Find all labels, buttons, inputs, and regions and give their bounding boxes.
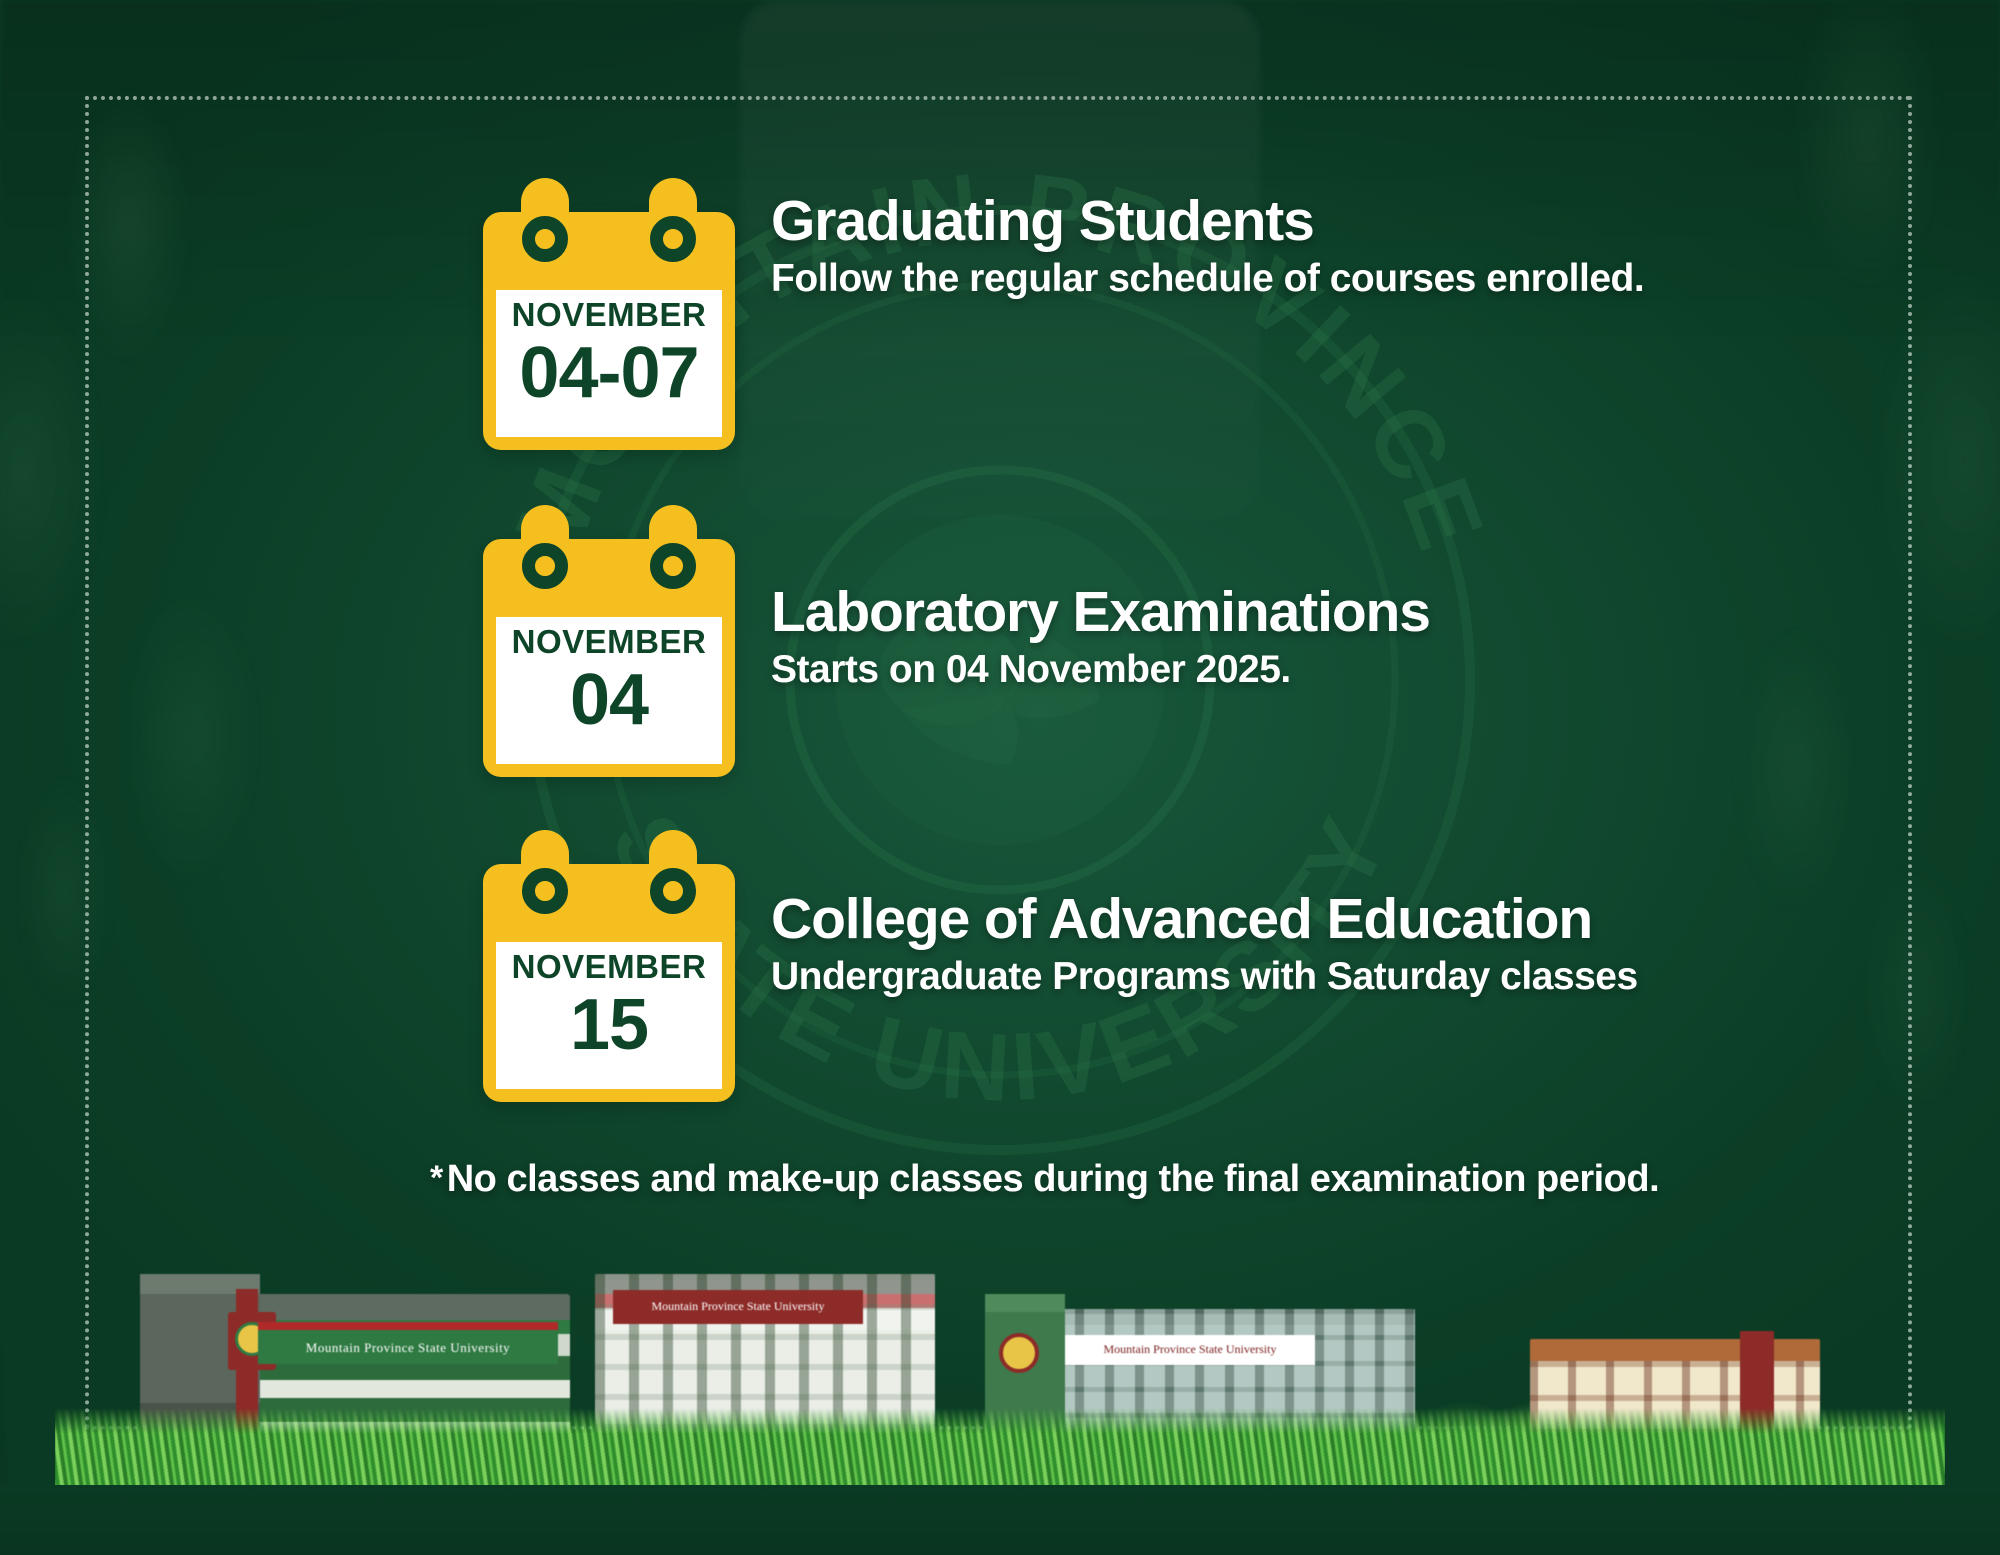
footnote-text: No classes and make-up classes during th…: [447, 1158, 1659, 1200]
calendar-day-2: 04: [570, 664, 648, 736]
calendar-month-1: NOVEMBER: [512, 298, 707, 331]
poster-canvas: MOUNTAIN PROVINCE STATE UNIVERSITY NOVEM…: [0, 0, 2000, 1555]
calendar-ring-left-2: [521, 505, 569, 583]
calendar-ring-left-1: [521, 178, 569, 256]
entry-title-1: Graduating Students: [771, 192, 1644, 251]
entry-title-3: College of Advanced Education: [771, 890, 1638, 949]
calendar-ring-hole-right-2: [650, 543, 696, 589]
calendar-ring-hole-right-1: [650, 216, 696, 262]
footnote-asterisk: *: [430, 1159, 443, 1197]
calendar-ring-right-2: [649, 505, 697, 583]
building-center-left-banner-text: Mountain Province State University: [613, 1299, 863, 1314]
entry-subtitle-2: Starts on 04 November 2025.: [771, 648, 1430, 692]
calendar-month-2: NOVEMBER: [512, 625, 707, 658]
schedule-entry-college-of-advanced-education: NOVEMBER 15 College of Advanced Educatio…: [483, 830, 1638, 999]
campus-photo-band: Mountain Province State University Mount…: [0, 1225, 2000, 1555]
entry-text-2: Laboratory Examinations Starts on 04 Nov…: [771, 505, 1430, 692]
calendar-ring-hole-left-2: [522, 543, 568, 589]
calendar-day-1: 04-07: [519, 337, 698, 409]
calendar-ring-right-1: [649, 178, 697, 256]
building-center-left-banner: Mountain Province State University: [613, 1290, 863, 1324]
entry-subtitle-1: Follow the regular schedule of courses e…: [771, 257, 1644, 301]
calendar-page-2: NOVEMBER 04: [496, 617, 722, 764]
calendar-page-3: NOVEMBER 15: [496, 942, 722, 1089]
calendar-month-3: NOVEMBER: [512, 950, 707, 983]
building-center-right-seal-icon: [999, 1333, 1039, 1373]
calendar-rings-3: [483, 830, 735, 900]
calendar-ring-hole-right-3: [650, 868, 696, 914]
entry-text-3: College of Advanced Education Undergradu…: [771, 830, 1638, 999]
calendar-page-1: NOVEMBER 04-07: [496, 290, 722, 437]
building-left-banner: Mountain Province State University: [258, 1322, 558, 1364]
ground-strip: [0, 1485, 2000, 1555]
calendar-ring-hole-left-3: [522, 868, 568, 914]
schedule-entry-laboratory-examinations: NOVEMBER 04 Laboratory Examinations Star…: [483, 505, 1430, 692]
building-left-banner-text: Mountain Province State University: [258, 1340, 558, 1356]
calendar-ring-hole-left-1: [522, 216, 568, 262]
calendar-ring-right-3: [649, 830, 697, 908]
entry-subtitle-3: Undergraduate Programs with Saturday cla…: [771, 955, 1638, 999]
footnote: *No classes and make-up classes during t…: [430, 1158, 1659, 1201]
calendar-ring-left-3: [521, 830, 569, 908]
schedule-entry-graduating-students: NOVEMBER 04-07 Graduating Students Follo…: [483, 178, 1644, 301]
building-center-right-banner-text: Mountain Province State University: [1065, 1342, 1315, 1357]
calendar-day-3: 15: [570, 989, 648, 1061]
entry-text-1: Graduating Students Follow the regular s…: [771, 178, 1644, 301]
calendar-rings-1: [483, 178, 735, 248]
building-center-right-banner: Mountain Province State University: [1065, 1335, 1315, 1365]
calendar-rings-2: [483, 505, 735, 575]
entry-title-2: Laboratory Examinations: [771, 583, 1430, 642]
